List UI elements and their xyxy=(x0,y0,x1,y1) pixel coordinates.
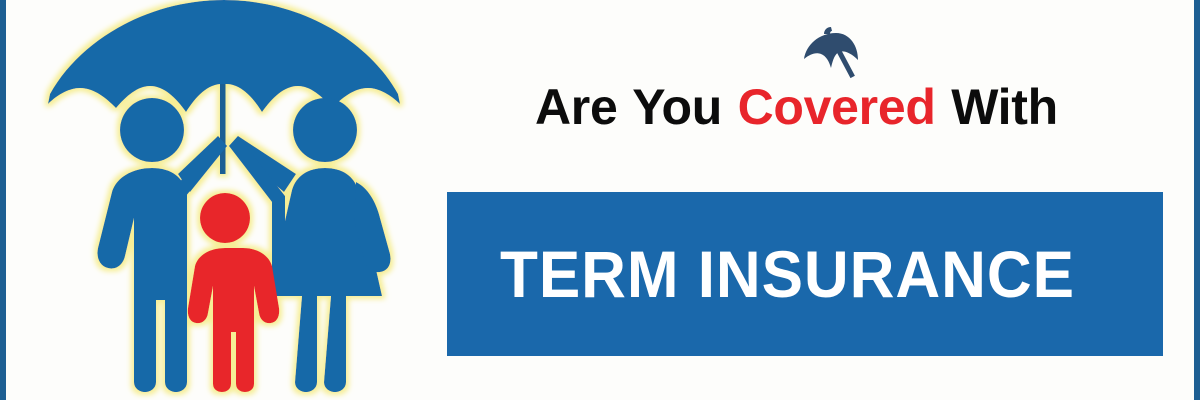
headline-word-1: Are xyxy=(535,79,617,135)
child-head xyxy=(200,193,250,243)
headline-word-accent: Covered xyxy=(738,79,936,135)
left-edge-rule xyxy=(0,0,6,400)
right-edge-rule xyxy=(1194,0,1200,400)
child-body xyxy=(188,248,279,392)
term-insurance-banner: Are You Covered With TERM INSURANCE xyxy=(0,0,1200,400)
umbrella-icon xyxy=(803,26,869,86)
term-insurance-label: TERM INSURANCE xyxy=(500,241,1075,307)
headline-word-2: You xyxy=(632,79,722,135)
headline-row: Are You Covered With xyxy=(440,78,1168,140)
page-headline: Are You Covered With xyxy=(535,78,1060,136)
term-insurance-band: TERM INSURANCE xyxy=(447,192,1163,356)
mother-legs xyxy=(295,296,346,392)
message-column: Are You Covered With TERM INSURANCE xyxy=(440,0,1168,400)
mother-head xyxy=(293,98,357,162)
family-under-umbrella-illustration xyxy=(28,0,428,400)
father-head xyxy=(120,98,184,162)
headline-word-4: With xyxy=(951,79,1058,135)
